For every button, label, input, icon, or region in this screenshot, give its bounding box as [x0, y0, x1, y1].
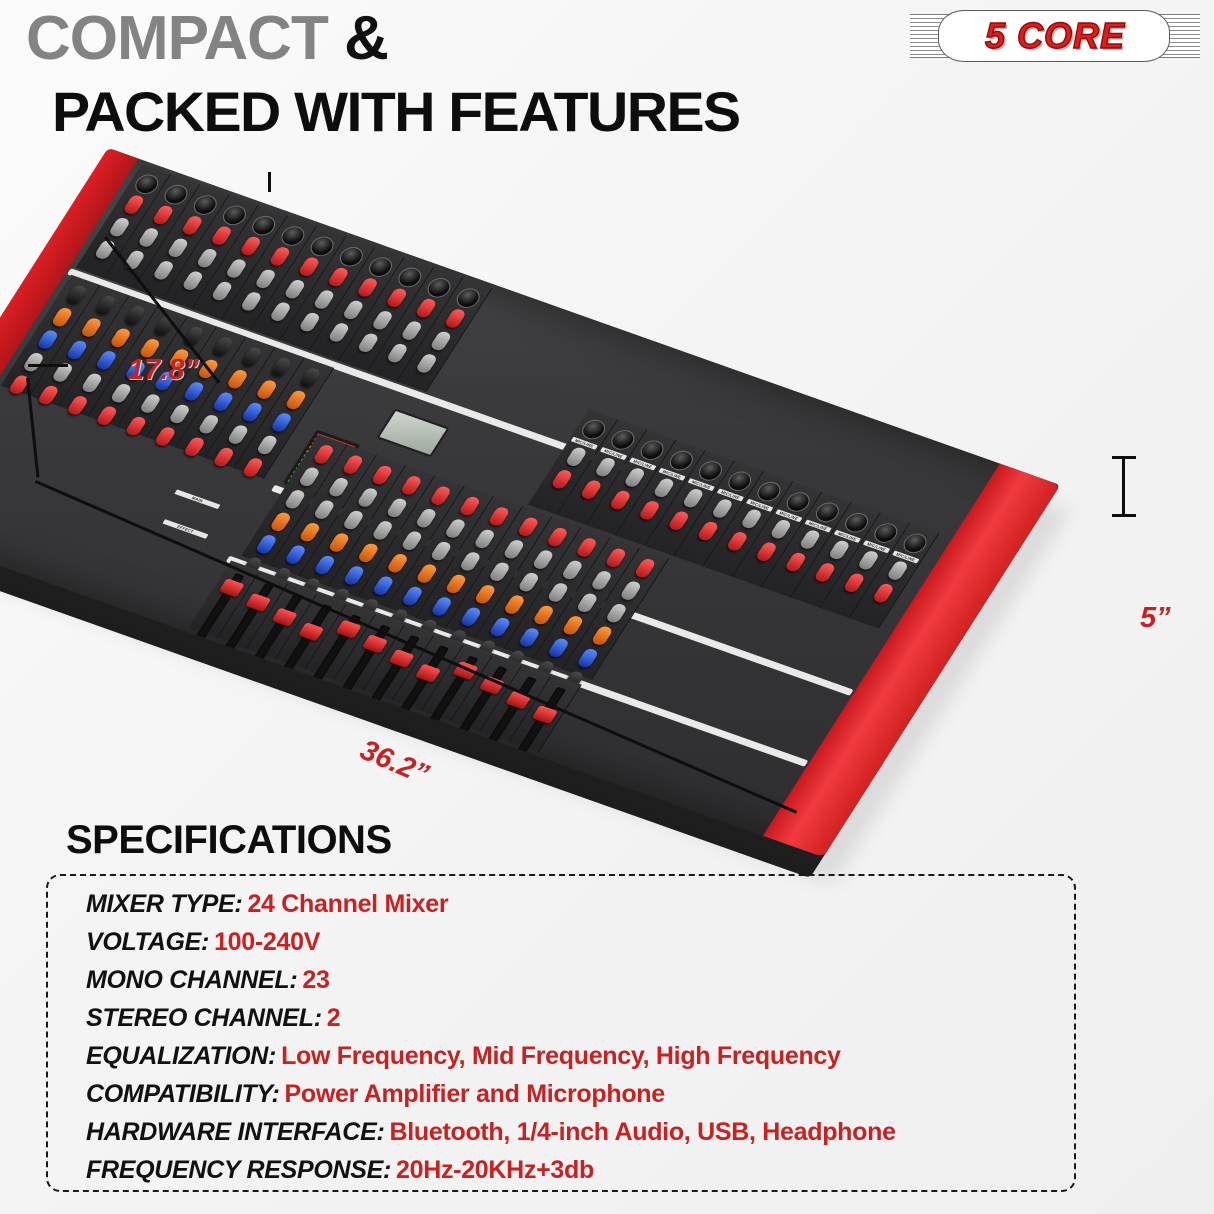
- spec-value: 23: [302, 966, 329, 995]
- spec-value: Bluetooth, 1/4-inch Audio, USB, Headphon…: [389, 1118, 895, 1147]
- spec-row: COMPATIBILITY:Power Amplifier and Microp…: [86, 1080, 1060, 1118]
- spec-label: COMPATIBILITY:: [86, 1080, 279, 1109]
- fader-handle[interactable]: [298, 622, 324, 641]
- spec-row: FREQUENCY RESPONSE:20Hz-20KHz+3db: [86, 1156, 1060, 1194]
- product-image-area: MIC/LINE MIC/LINE MIC/LINE MIC/LINE MIC/…: [0, 150, 1214, 870]
- specifications-list: MIXER TYPE:24 Channel MixerVOLTAGE:100-2…: [86, 890, 1060, 1194]
- brand-logo: 5 CORE: [910, 8, 1200, 64]
- spec-label: STEREO CHANNEL:: [86, 1004, 322, 1033]
- audio-mixer-product: MIC/LINE MIC/LINE MIC/LINE MIC/LINE MIC/…: [55, 170, 1115, 830]
- specifications-heading: SPECIFICATIONS: [66, 818, 392, 863]
- dimension-tick-width-b: [28, 364, 68, 367]
- fader-handle[interactable]: [361, 634, 387, 653]
- fader-handle[interactable]: [245, 593, 271, 612]
- dimension-tick-height-top: [1112, 456, 1136, 459]
- dimension-tick-width-a: [268, 172, 271, 192]
- dimension-label-width: 17.8”: [128, 354, 199, 387]
- spec-label: VOLTAGE:: [86, 928, 209, 957]
- lcd-display: [376, 409, 449, 458]
- dimension-tick-height-bottom: [1112, 514, 1136, 517]
- logo-text: 5 CORE: [910, 8, 1200, 64]
- spec-row: MONO CHANNEL:23: [86, 966, 1060, 1004]
- headline-line-2: PACKED WITH FEATURES: [52, 84, 740, 140]
- fader-handle[interactable]: [218, 578, 244, 597]
- spec-label: MIXER TYPE:: [86, 890, 242, 919]
- spec-value: 24 Channel Mixer: [247, 890, 448, 919]
- spec-row: HARDWARE INTERFACE:Bluetooth, 1/4-inch A…: [86, 1118, 1060, 1156]
- spec-value: Low Frequency, Mid Frequency, High Frequ…: [281, 1042, 841, 1071]
- spec-value: 2: [327, 1004, 341, 1033]
- spec-label: HARDWARE INTERFACE:: [86, 1118, 384, 1147]
- spec-value: Power Amplifier and Microphone: [284, 1080, 664, 1109]
- spec-label: FREQUENCY RESPONSE:: [86, 1156, 391, 1185]
- headline-compact: COMPACT: [26, 4, 328, 73]
- dimension-label-height: 5”: [1140, 602, 1171, 635]
- spec-value: 100-240V: [214, 928, 320, 957]
- spec-row: MIXER TYPE:24 Channel Mixer: [86, 890, 1060, 928]
- dimension-line-height: [1122, 456, 1125, 516]
- specifications-box: MIXER TYPE:24 Channel MixerVOLTAGE:100-2…: [46, 874, 1076, 1192]
- spec-label: EQUALIZATION:: [86, 1042, 276, 1071]
- fader-handle[interactable]: [414, 663, 440, 682]
- header-banner: COMPACT & PACKED WITH FEATURES 5 CORE: [0, 0, 1214, 160]
- main-label: MAIN: [174, 489, 220, 509]
- spec-row: VOLTAGE:100-240V: [86, 928, 1060, 966]
- headline-ampersand: &: [344, 4, 388, 73]
- spec-row: EQUALIZATION:Low Frequency, Mid Frequenc…: [86, 1042, 1060, 1080]
- headline-line-1: COMPACT &: [26, 8, 388, 70]
- effect-label: EFFECT: [162, 519, 208, 539]
- spec-label: MONO CHANNEL:: [86, 966, 297, 995]
- spec-row: STEREO CHANNEL:2: [86, 1004, 1060, 1042]
- spec-value: 20Hz-20KHz+3db: [396, 1156, 594, 1185]
- fader-handle[interactable]: [271, 607, 297, 626]
- fader-handle[interactable]: [388, 649, 414, 668]
